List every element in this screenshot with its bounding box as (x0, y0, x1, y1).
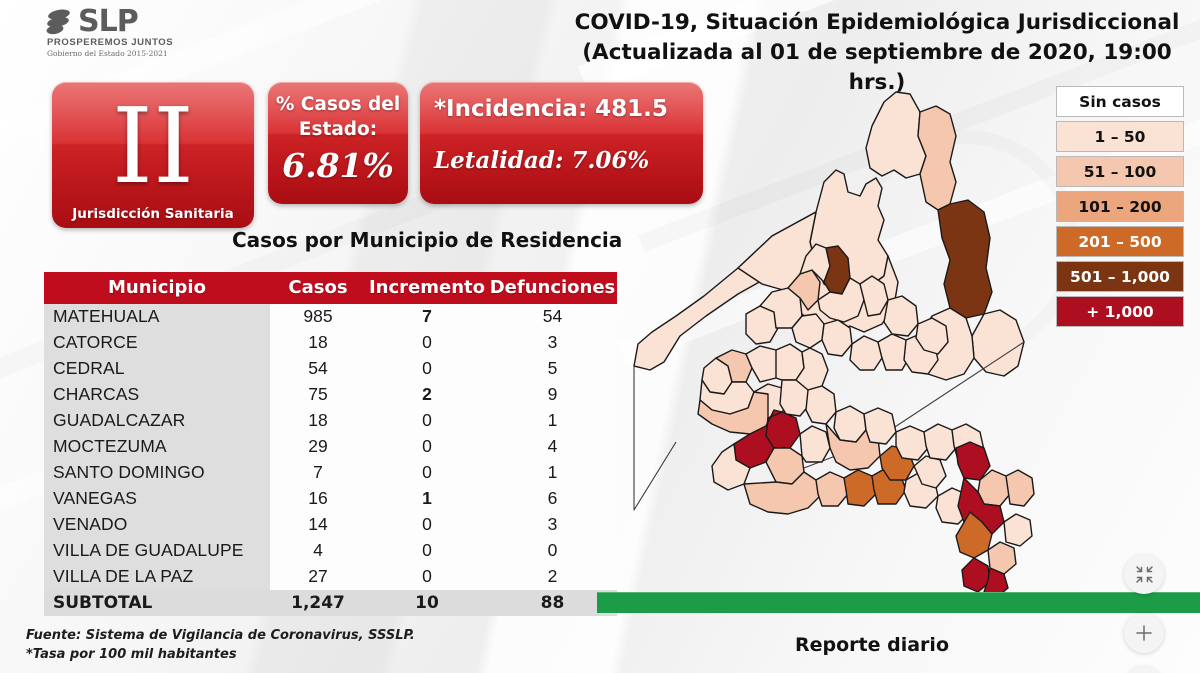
cell-casos: 27 (270, 564, 366, 590)
choropleth-map (620, 70, 1050, 610)
cell-incremento: 2 (366, 382, 488, 408)
cases-by-municipality-table: Municipio Casos Incremento Defunciones M… (44, 272, 617, 616)
cell-casos: 7 (270, 460, 366, 486)
subtotal-row: SUBTOTAL 1,247 10 88 (44, 590, 617, 616)
cell-defunciones: 3 (488, 512, 617, 538)
cell-casos: 14 (270, 512, 366, 538)
table-header-row: Municipio Casos Incremento Defunciones (44, 272, 617, 304)
column-header-municipio[interactable]: Municipio (44, 272, 270, 304)
cell-municipio: GUADALCAZAR (44, 408, 270, 434)
legend-item-6: + 1,000 (1056, 296, 1184, 327)
cell-incremento: 0 (366, 538, 488, 564)
table-row: MOCTEZUMA2904 (44, 434, 617, 460)
cell-casos: 4 (270, 538, 366, 564)
cell-incremento: 0 (366, 512, 488, 538)
table-row: GUADALCAZAR1801 (44, 408, 617, 434)
cell-defunciones: 54 (488, 304, 617, 330)
table-body: MATEHUALA985754CATORCE1803CEDRAL5405CHAR… (44, 304, 617, 590)
cell-municipio: VENADO (44, 512, 270, 538)
slp-logo: SLP PROSPEREMOS JUNTOS Gobierno del Esta… (46, 8, 226, 58)
table-row: VENADO1403 (44, 512, 617, 538)
jurisdiction-number: II (52, 82, 254, 198)
table-row: CHARCAS7529 (44, 382, 617, 408)
cell-incremento: 0 (366, 356, 488, 382)
cell-casos: 54 (270, 356, 366, 382)
state-percent-label-line1: % Casos del (274, 92, 402, 117)
cell-defunciones: 2 (488, 564, 617, 590)
table-row: VILLA DE GUADALUPE400 (44, 538, 617, 564)
subtotal-incremento: 10 (366, 590, 488, 616)
column-header-incremento[interactable]: Incremento (366, 272, 488, 304)
cell-municipio: VANEGAS (44, 486, 270, 512)
footnote-rate-note: *Tasa por 100 mil habitantes (26, 645, 415, 664)
table-footer: SUBTOTAL 1,247 10 88 (44, 590, 617, 616)
table-row: MATEHUALA985754 (44, 304, 617, 330)
slp-bean-mark-icon (46, 8, 76, 36)
cell-defunciones: 0 (488, 538, 617, 564)
cell-municipio: MOCTEZUMA (44, 434, 270, 460)
cell-defunciones: 1 (488, 460, 617, 486)
table-row: VANEGAS1616 (44, 486, 617, 512)
table-row: CEDRAL5405 (44, 356, 617, 382)
cell-incremento: 0 (366, 460, 488, 486)
cell-casos: 16 (270, 486, 366, 512)
map-legend: Sin casos1 – 5051 – 100101 – 200201 – 50… (1056, 86, 1184, 331)
legend-item-3: 101 – 200 (1056, 191, 1184, 222)
cell-casos: 75 (270, 382, 366, 408)
subtotal-label: SUBTOTAL (44, 590, 270, 616)
cell-casos: 18 (270, 330, 366, 356)
cell-municipio: CEDRAL (44, 356, 270, 382)
cell-defunciones: 1 (488, 408, 617, 434)
cell-municipio: CHARCAS (44, 382, 270, 408)
cell-defunciones: 5 (488, 356, 617, 382)
plus-icon[interactable] (1124, 613, 1164, 653)
cell-incremento: 0 (366, 330, 488, 356)
logo-tagline: PROSPEREMOS JUNTOS (46, 37, 226, 48)
cell-incremento: 0 (366, 564, 488, 590)
table-row: CATORCE1803 (44, 330, 617, 356)
cell-incremento: 7 (366, 304, 488, 330)
cell-defunciones: 6 (488, 486, 617, 512)
table-row: SANTO DOMINGO701 (44, 460, 617, 486)
cell-municipio: VILLA DE LA PAZ (44, 564, 270, 590)
cell-defunciones: 3 (488, 330, 617, 356)
jurisdiction-label: Jurisdicción Sanitaria (52, 206, 254, 222)
cell-municipio: MATEHUALA (44, 304, 270, 330)
legend-item-0: Sin casos (1056, 86, 1184, 117)
column-header-casos[interactable]: Casos (270, 272, 366, 304)
table-row: VILLA DE LA PAZ2702 (44, 564, 617, 590)
cell-casos: 18 (270, 408, 366, 434)
jurisdiction-card: II Jurisdicción Sanitaria (52, 82, 254, 228)
legend-item-5: 501 – 1,000 (1056, 261, 1184, 292)
logo-wordmark: SLP (78, 8, 138, 36)
report-label: Reporte diario (795, 634, 949, 656)
cell-municipio: SANTO DOMINGO (44, 460, 270, 486)
cell-casos: 985 (270, 304, 366, 330)
legend-item-1: 1 – 50 (1056, 121, 1184, 152)
cell-defunciones: 9 (488, 382, 617, 408)
legend-item-4: 201 – 500 (1056, 226, 1184, 257)
title-line-1: COVID-19, Situación Epidemiológica Juris… (560, 8, 1194, 38)
subtotal-casos: 1,247 (270, 590, 366, 616)
footnote-source: Fuente: Sistema de Vigilancia de Coronav… (26, 626, 415, 645)
cell-casos: 29 (270, 434, 366, 460)
cell-municipio: VILLA DE GUADALUPE (44, 538, 270, 564)
column-header-defunciones[interactable]: Defunciones (488, 272, 617, 304)
footnote: Fuente: Sistema de Vigilancia de Coronav… (26, 626, 415, 664)
cell-incremento: 1 (366, 486, 488, 512)
accent-bar (597, 592, 1200, 613)
state-percent-value: 6.81% (274, 146, 402, 186)
legend-item-2: 51 – 100 (1056, 156, 1184, 187)
cell-municipio: CATORCE (44, 330, 270, 356)
state-percent-label-line2: Estado: (274, 117, 402, 142)
table-heading: Casos por Municipio de Residencia (232, 228, 632, 252)
table-header: Municipio Casos Incremento Defunciones (44, 272, 617, 304)
cell-incremento: 0 (366, 434, 488, 460)
collapse-arrows-icon[interactable] (1124, 554, 1164, 594)
cell-incremento: 0 (366, 408, 488, 434)
cell-defunciones: 4 (488, 434, 617, 460)
state-percent-card: % Casos del Estado: 6.81% (268, 82, 408, 204)
logo-subtitle: Gobierno del Estado 2015-2021 (46, 49, 226, 58)
